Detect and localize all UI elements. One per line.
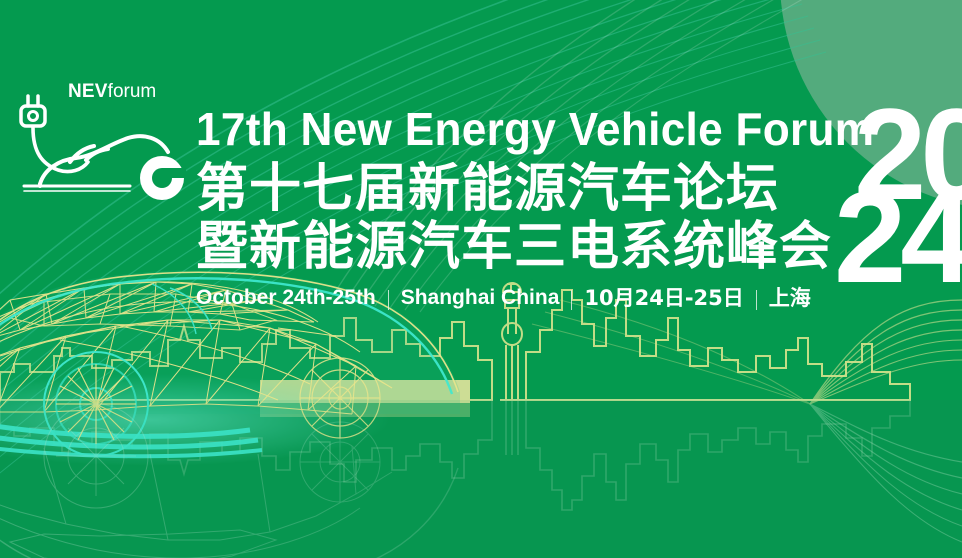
subtitle-location-cn: 上海 <box>769 286 811 310</box>
logo-brand-light: forum <box>108 81 157 102</box>
subtitle-divider-3 <box>756 290 757 310</box>
year-2024: 20 24 <box>836 104 956 304</box>
logo-wordmark: NEVforum <box>68 81 156 103</box>
subtitle-date-en: October 24th-25th <box>196 286 376 310</box>
title-block: 17th New Energy Vehicle Forum 第十七届新能源汽车论… <box>196 104 856 310</box>
charging-plug-icon <box>21 96 45 126</box>
event-banner: NEVforum 17th New Energy Vehicle Forum 第… <box>0 0 962 558</box>
subtitle-divider-1 <box>388 290 389 310</box>
logo-brand-bold: NEV <box>68 81 108 102</box>
subtitle-divider-2 <box>571 290 572 310</box>
charging-cable <box>33 128 88 172</box>
year-bottom: 24 <box>834 187 956 288</box>
subtitle-bar: October 24th-25th Shanghai China 10月24日-… <box>196 286 856 310</box>
wheel-icon <box>140 156 186 200</box>
subtitle-date-cn: 10月24日-25日 <box>584 286 743 310</box>
subtitle-location-en: Shanghai China <box>401 286 560 310</box>
title-english: 17th New Energy Vehicle Forum <box>196 104 830 154</box>
title-chinese-line2: 暨新能源汽车三电系统峰会 <box>196 218 856 276</box>
title-chinese-line1: 第十七届新能源汽车论坛 <box>196 160 856 218</box>
